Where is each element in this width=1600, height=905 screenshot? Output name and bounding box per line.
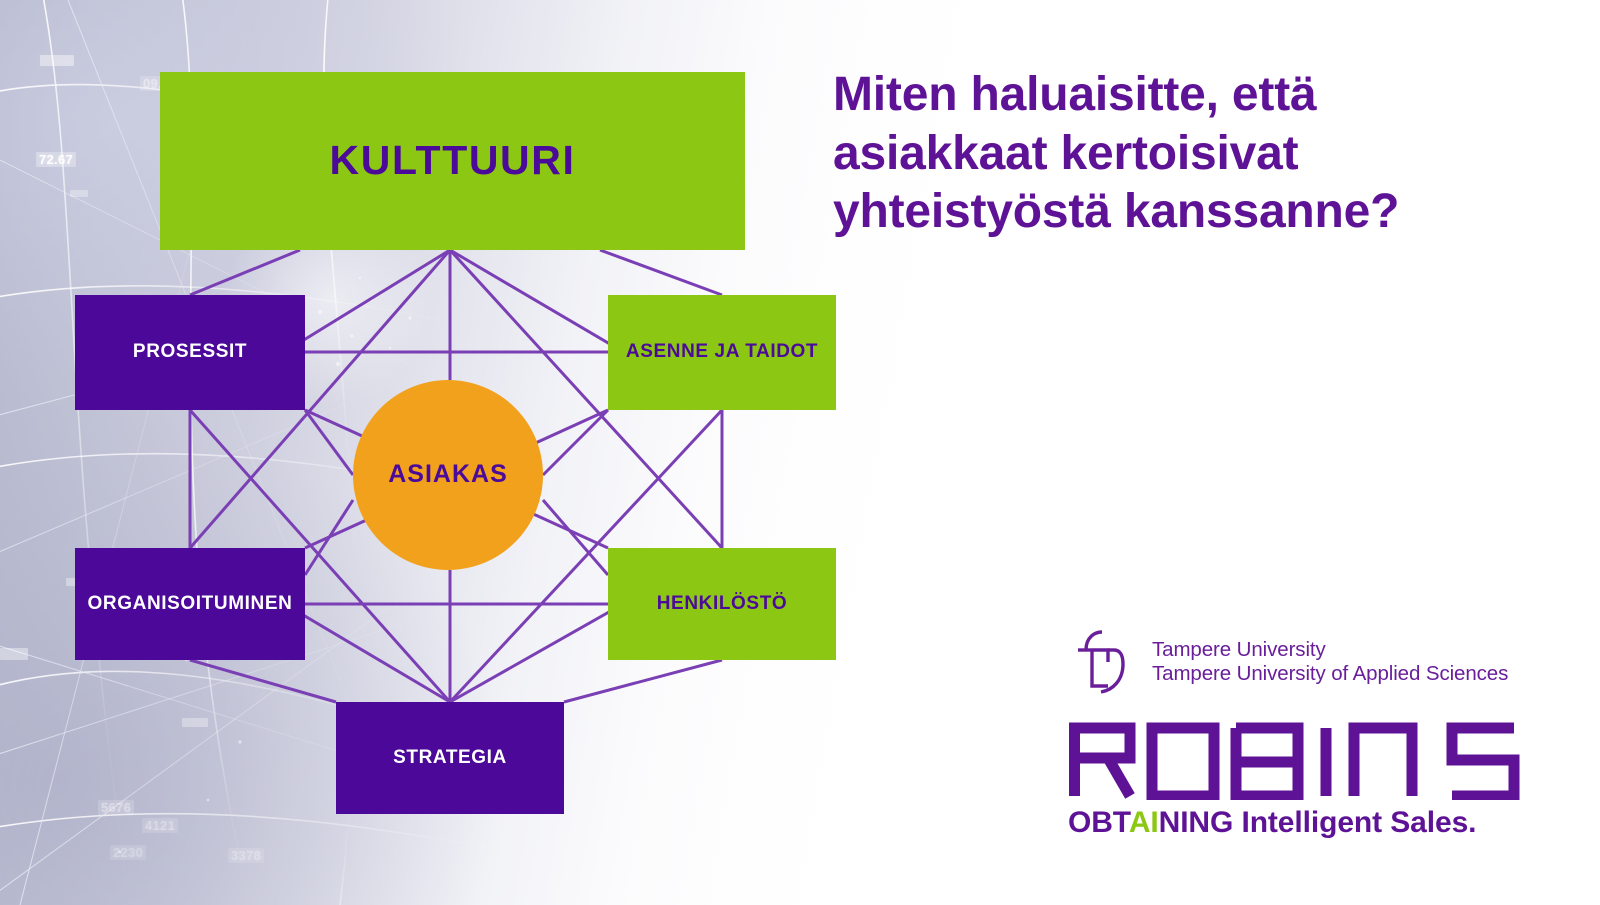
- diagram-node-asiakas-center[interactable]: ASIAKAS: [353, 380, 543, 570]
- diagram-node-organisoituminen[interactable]: ORGANISOITUMINEN: [75, 548, 305, 660]
- tampere-university-line2: Tampere University of Applied Sciences: [1152, 662, 1508, 686]
- robins-tagline-ai-highlight: AI: [1129, 806, 1159, 839]
- diagram-node-label: PROSESSIT: [133, 342, 247, 363]
- diagram-node-label: ORGANISOITUMINEN: [88, 594, 293, 615]
- diagram-node-kulttuuri[interactable]: KULTTUURI: [160, 72, 745, 250]
- diagram-node-henkilosto[interactable]: HENKILÖSTÖ: [608, 548, 836, 660]
- diagram-node-label: ASIAKAS: [388, 461, 508, 489]
- diagram-node-label: STRATEGIA: [393, 748, 507, 769]
- slide-headline: Miten haluaisitte, että asiakkaat kertoi…: [833, 66, 1533, 242]
- tampere-university-line1: Tampere University: [1152, 638, 1508, 662]
- diagram-node-prosessit[interactable]: PROSESSIT: [75, 295, 305, 410]
- robins-tagline-after: NING Intelligent Sales.: [1159, 806, 1477, 839]
- robins-logo: OBTAINING Intelligent Sales.: [1068, 722, 1520, 840]
- robins-tagline: OBTAINING Intelligent Sales.: [1068, 806, 1520, 840]
- diagram-node-label: KULTTUURI: [330, 138, 576, 183]
- tampere-university-mark-icon: [1068, 628, 1138, 696]
- diagram-node-label: HENKILÖSTÖ: [657, 594, 788, 615]
- robins-wordmark-icon: [1068, 722, 1520, 800]
- tampere-university-text: Tampere University Tampere University of…: [1152, 638, 1508, 686]
- diagram-node-strategia[interactable]: STRATEGIA: [336, 702, 564, 814]
- customer-model-diagram: KULTTUURI PROSESSIT ASENNE JA TAIDOT ORG…: [0, 0, 900, 905]
- slide-canvas: 72.67 09.14 8158 5676 4121 2230 3378: [0, 0, 1600, 905]
- tampere-university-logo: Tampere University Tampere University of…: [1068, 628, 1508, 696]
- robins-tagline-before: OBT: [1068, 806, 1129, 839]
- diagram-node-label: ASENNE JA TAIDOT: [626, 342, 818, 363]
- diagram-node-asenne-ja-taidot[interactable]: ASENNE JA TAIDOT: [608, 295, 836, 410]
